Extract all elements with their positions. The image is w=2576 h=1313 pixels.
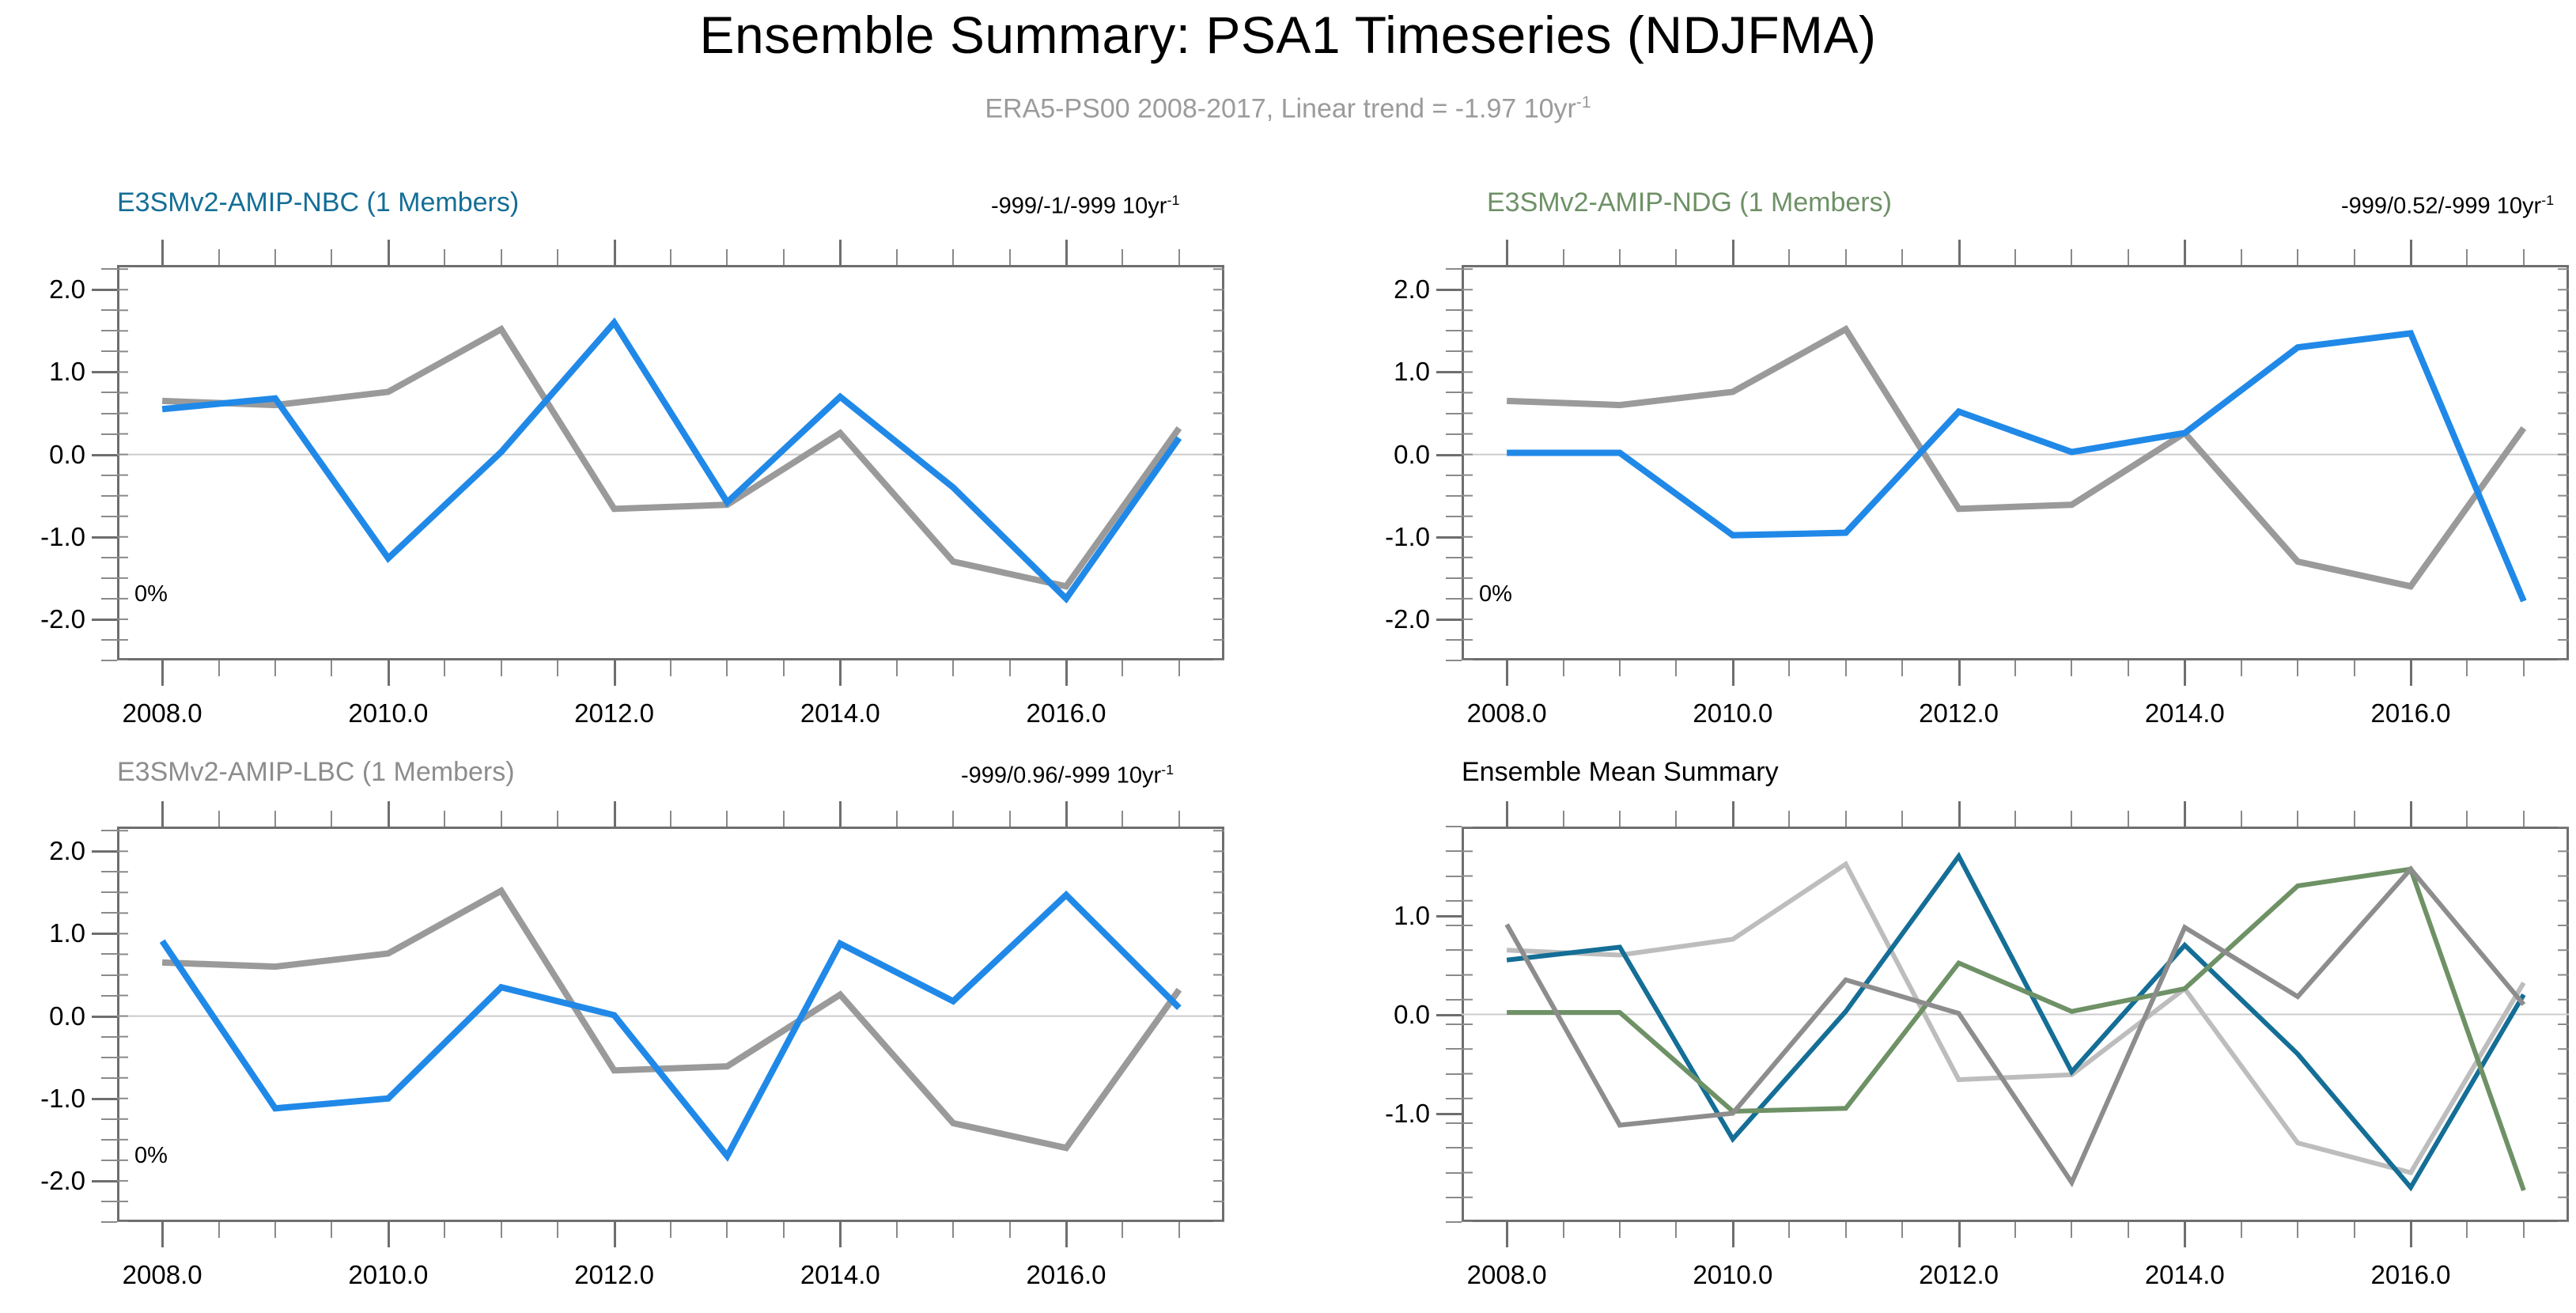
y-axis-minor-tick-outer — [101, 871, 117, 872]
panel-nbc-stat: -999/-1/-999 10yr-1 — [991, 192, 1179, 220]
x-axis-minor-tick-top — [501, 811, 502, 827]
x-axis-minor-tick-top — [1788, 811, 1790, 827]
x-axis-major-tick — [1958, 660, 1961, 686]
x-axis-minor-tick-top — [2354, 249, 2355, 265]
x-axis-minor-tick-top — [896, 249, 898, 265]
y-axis-minor-tick-outer — [101, 1036, 117, 1038]
y-axis-major-tick — [1436, 454, 1462, 456]
x-axis-major-tick-top — [2410, 240, 2412, 265]
x-axis-minor-tick-top — [218, 811, 220, 827]
x-axis-minor-tick-top — [726, 249, 728, 265]
y-axis-major-tick — [92, 850, 117, 853]
y-axis-minor-tick-outer — [1446, 475, 1462, 476]
y-axis-major-tick — [92, 371, 117, 373]
x-axis-minor-tick — [274, 660, 276, 676]
panel-ndg-stat: -999/0.52/-999 10yr-1 — [2341, 192, 2554, 220]
x-axis-minor-tick — [1901, 1222, 1903, 1238]
y-axis-minor-tick-outer — [1446, 1221, 1462, 1223]
x-axis-minor-tick-top — [1619, 811, 1621, 827]
x-axis-minor-tick-top — [783, 811, 785, 827]
x-axis-minor-tick — [1563, 1222, 1564, 1238]
y-axis-tick-label: 0.0 — [0, 1001, 85, 1031]
x-axis-minor-tick-top — [331, 249, 332, 265]
x-axis-minor-tick-top — [331, 811, 332, 827]
y-axis-minor-tick-outer — [1446, 309, 1462, 311]
x-axis-minor-tick — [952, 660, 954, 676]
x-axis-tick-label: 2008.0 — [1467, 698, 1547, 728]
x-axis-minor-tick-top — [1845, 249, 1847, 265]
panel-ndg-plot: 0% — [1462, 265, 2569, 660]
x-axis-major-tick — [2410, 660, 2412, 686]
y-axis-major-tick — [92, 1016, 117, 1018]
y-axis-minor-tick-outer — [1446, 974, 1462, 976]
x-axis-major-tick — [388, 660, 390, 686]
x-axis-major-tick — [161, 1222, 164, 1247]
panel-lbc-stat-text: -999/0.96/-999 10yr — [961, 763, 1161, 789]
panel-ndg-stat-text: -999/0.52/-999 10yr — [2341, 194, 2541, 219]
x-axis-minor-tick — [1788, 660, 1790, 676]
y-axis-minor-tick-outer — [1446, 1197, 1462, 1198]
x-axis-minor-tick-top — [2354, 811, 2355, 827]
x-axis-minor-tick — [670, 1222, 671, 1238]
x-axis-major-tick-top — [614, 801, 616, 827]
x-axis-minor-tick — [331, 660, 332, 676]
y-axis-tick-label: 0.0 — [1343, 1000, 1430, 1030]
y-axis-tick-label: 2.0 — [0, 274, 85, 305]
y-axis-minor-tick-outer — [101, 830, 117, 831]
y-axis-minor-tick-outer — [1446, 557, 1462, 558]
panel-ensemble-mean-plot — [1462, 827, 2569, 1222]
x-axis-major-tick — [1506, 660, 1508, 686]
x-axis-minor-tick — [2466, 1222, 2468, 1238]
x-axis-minor-tick-top — [2523, 811, 2525, 827]
series-line-e3smv2-amip-lbc — [162, 895, 1179, 1156]
y-axis-minor-tick-outer — [1446, 495, 1462, 497]
x-axis-minor-tick — [1178, 1222, 1180, 1238]
x-axis-minor-tick-top — [218, 249, 220, 265]
x-axis-minor-tick-top — [2297, 249, 2298, 265]
x-axis-major-tick-top — [1065, 240, 1068, 265]
y-axis-minor-tick-outer — [1446, 826, 1462, 827]
series-line-era5-observation — [1507, 329, 2524, 586]
y-axis-major-tick — [92, 454, 117, 456]
panel-ndg-title: E3SMv2-AMIP-NDG (1 Members) — [1487, 187, 1892, 218]
x-axis-major-tick — [2184, 660, 2186, 686]
y-axis-major-tick — [1436, 536, 1462, 539]
x-axis-minor-tick-top — [274, 249, 276, 265]
x-axis-major-tick — [614, 660, 616, 686]
x-axis-minor-tick-top — [2014, 811, 2016, 827]
y-axis-minor-tick-outer — [101, 912, 117, 914]
x-axis-minor-tick-top — [2297, 811, 2298, 827]
x-axis-minor-tick-top — [2128, 249, 2129, 265]
y-axis-minor-tick-outer — [101, 1160, 117, 1161]
y-axis-minor-tick-outer — [101, 1057, 117, 1058]
y-axis-minor-tick-outer — [101, 475, 117, 476]
x-axis-minor-tick — [2241, 1222, 2242, 1238]
x-axis-minor-tick-top — [1901, 811, 1903, 827]
x-axis-minor-tick-top — [1563, 249, 1564, 265]
x-axis-minor-tick — [1619, 660, 1621, 676]
panel-nbc-percent-label: 0% — [134, 581, 168, 607]
x-axis-major-tick-top — [1065, 801, 1068, 827]
x-axis-minor-tick-top — [1009, 811, 1011, 827]
x-axis-minor-tick — [218, 1222, 220, 1238]
x-axis-tick-label: 2008.0 — [1467, 1260, 1547, 1290]
x-axis-minor-tick-top — [726, 811, 728, 827]
y-axis-minor-tick-outer — [101, 891, 117, 893]
y-axis-major-tick — [92, 933, 117, 935]
x-axis-major-tick-top — [1732, 801, 1734, 827]
x-axis-minor-tick — [896, 660, 898, 676]
panel-lbc-stat: -999/0.96/-999 10yr-1 — [961, 762, 1174, 789]
y-axis-minor-tick-outer — [1446, 949, 1462, 951]
x-axis-minor-tick — [557, 1222, 558, 1238]
panel-lbc-percent-label: 0% — [134, 1143, 168, 1169]
x-axis-minor-tick — [1122, 660, 1123, 676]
x-axis-tick-label: 2014.0 — [2145, 698, 2225, 728]
series-line-e3smv2-amip-lbc — [1507, 869, 2524, 1182]
x-axis-minor-tick-top — [2014, 249, 2016, 265]
y-axis-minor-tick-outer — [1446, 876, 1462, 877]
x-axis-minor-tick — [1563, 660, 1564, 676]
x-axis-minor-tick-top — [1619, 249, 1621, 265]
x-axis-minor-tick — [1009, 1222, 1011, 1238]
x-axis-minor-tick — [1845, 1222, 1847, 1238]
x-axis-minor-tick-top — [896, 811, 898, 827]
page-title: Ensemble Summary: PSA1 Timeseries (NDJFM… — [0, 5, 2576, 65]
y-axis-major-tick — [1436, 371, 1462, 373]
x-axis-minor-tick-top — [783, 249, 785, 265]
x-axis-minor-tick — [1675, 1222, 1677, 1238]
x-axis-minor-tick-top — [2466, 811, 2468, 827]
y-axis-tick-label: 2.0 — [0, 836, 85, 866]
x-axis-minor-tick — [1178, 660, 1180, 676]
x-axis-minor-tick-top — [1788, 249, 1790, 265]
x-axis-major-tick — [388, 1222, 390, 1247]
figure-root: Ensemble Summary: PSA1 Timeseries (NDJFM… — [0, 0, 2576, 1313]
y-axis-minor-tick-outer — [1446, 268, 1462, 270]
x-axis-major-tick — [2410, 1222, 2412, 1247]
y-axis-minor-tick-outer — [101, 516, 117, 517]
x-axis-major-tick — [1732, 1222, 1734, 1247]
x-axis-minor-tick-top — [1122, 249, 1123, 265]
y-axis-minor-tick-outer — [101, 433, 117, 435]
series-line-e3smv2-amip-nbc — [1507, 857, 2524, 1188]
panel-ensemble-mean-title: Ensemble Mean Summary — [1462, 757, 1779, 788]
y-axis-tick-label: -2.0 — [0, 1166, 85, 1196]
y-axis-tick-label: -2.0 — [0, 604, 85, 634]
y-axis-minor-tick-outer — [101, 598, 117, 600]
figure-subtitle: ERA5-PS00 2008-2017, Linear trend = -1.9… — [0, 93, 2576, 124]
y-axis-minor-tick-outer — [1446, 999, 1462, 1001]
y-axis-minor-tick-outer — [1446, 660, 1462, 661]
x-axis-tick-label: 2012.0 — [1919, 1260, 1999, 1290]
y-axis-minor-tick-outer — [101, 309, 117, 311]
x-axis-major-tick-top — [1506, 240, 1508, 265]
x-axis-tick-label: 2008.0 — [123, 698, 202, 728]
y-axis-minor-tick-outer — [101, 330, 117, 331]
y-axis-minor-tick-outer — [1446, 1048, 1462, 1050]
y-axis-tick-label: 0.0 — [0, 440, 85, 470]
x-axis-minor-tick-top — [952, 811, 954, 827]
x-axis-minor-tick — [2071, 1222, 2072, 1238]
x-axis-minor-tick-top — [2466, 249, 2468, 265]
series-line-e3smv2-amip-nbc — [162, 323, 1179, 599]
x-axis-minor-tick-top — [1178, 811, 1180, 827]
y-axis-minor-tick-outer — [101, 1201, 117, 1202]
panel-lbc-svg — [117, 827, 1224, 1222]
x-axis-minor-tick — [557, 660, 558, 676]
x-axis-minor-tick — [2466, 660, 2468, 676]
x-axis-minor-tick — [1122, 1222, 1123, 1238]
x-axis-minor-tick — [2297, 1222, 2298, 1238]
x-axis-minor-tick — [1619, 1222, 1621, 1238]
x-axis-minor-tick-top — [444, 811, 445, 827]
x-axis-tick-label: 2010.0 — [348, 1260, 428, 1290]
x-axis-minor-tick — [444, 1222, 445, 1238]
y-axis-major-tick — [92, 1180, 117, 1182]
x-axis-major-tick-top — [1506, 801, 1508, 827]
series-line-e3smv2-amip-ndg — [1507, 333, 2524, 601]
panel-nbc-svg — [117, 265, 1224, 660]
y-axis-minor-tick-outer — [1446, 1172, 1462, 1174]
x-axis-tick-label: 2012.0 — [574, 698, 654, 728]
panel-nbc-stat-text: -999/-1/-999 10yr — [991, 194, 1167, 219]
x-axis-tick-label: 2008.0 — [123, 1260, 202, 1290]
panel-ndg-stat-exponent: -1 — [2541, 192, 2554, 208]
y-axis-tick-label: -1.0 — [1343, 522, 1430, 552]
y-axis-minor-tick-outer — [101, 995, 117, 997]
y-axis-minor-tick-outer — [1446, 1147, 1462, 1148]
x-axis-minor-tick — [1009, 660, 1011, 676]
y-axis-minor-tick-outer — [101, 413, 117, 414]
y-axis-tick-label: -1.0 — [0, 522, 85, 552]
x-axis-major-tick-top — [1958, 801, 1961, 827]
x-axis-minor-tick — [1845, 660, 1847, 676]
x-axis-major-tick — [2184, 1222, 2186, 1247]
x-axis-tick-label: 2016.0 — [1027, 1260, 1106, 1290]
x-axis-tick-label: 2014.0 — [800, 1260, 880, 1290]
y-axis-minor-tick-outer — [101, 660, 117, 661]
y-axis-minor-tick-outer — [1446, 413, 1462, 414]
y-axis-minor-tick-outer — [101, 268, 117, 270]
panel-nbc-plot: 0% — [117, 265, 1224, 660]
x-axis-minor-tick-top — [2241, 811, 2242, 827]
y-axis-minor-tick-outer — [1446, 900, 1462, 902]
x-axis-minor-tick-top — [952, 249, 954, 265]
x-axis-minor-tick-top — [1675, 249, 1677, 265]
x-axis-major-tick-top — [388, 240, 390, 265]
y-axis-tick-label: 1.0 — [0, 918, 85, 948]
y-axis-major-tick — [92, 1098, 117, 1100]
x-axis-major-tick — [614, 1222, 616, 1247]
y-axis-tick-label: 1.0 — [1343, 901, 1430, 931]
y-axis-minor-tick-outer — [101, 557, 117, 558]
x-axis-major-tick — [161, 660, 164, 686]
x-axis-minor-tick — [2241, 660, 2242, 676]
x-axis-minor-tick-top — [2128, 811, 2129, 827]
y-axis-tick-label: 1.0 — [1343, 357, 1430, 387]
x-axis-minor-tick — [670, 660, 671, 676]
x-axis-tick-label: 2016.0 — [2371, 698, 2451, 728]
x-axis-minor-tick-top — [501, 249, 502, 265]
y-axis-minor-tick-outer — [1446, 392, 1462, 393]
x-axis-minor-tick — [1788, 1222, 1790, 1238]
y-axis-major-tick — [92, 536, 117, 539]
y-axis-minor-tick-outer — [1446, 639, 1462, 641]
subtitle-exponent: -1 — [1576, 93, 1591, 112]
y-axis-minor-tick-outer — [101, 1221, 117, 1223]
x-axis-minor-tick-top — [1563, 811, 1564, 827]
x-axis-tick-label: 2014.0 — [2145, 1260, 2225, 1290]
x-axis-minor-tick — [2297, 660, 2298, 676]
x-axis-major-tick-top — [161, 801, 164, 827]
x-axis-minor-tick — [2014, 1222, 2016, 1238]
x-axis-major-tick-top — [839, 801, 842, 827]
y-axis-minor-tick-outer — [101, 1077, 117, 1079]
x-axis-minor-tick-top — [2071, 811, 2072, 827]
x-axis-major-tick — [1958, 1222, 1961, 1247]
x-axis-minor-tick-top — [1901, 249, 1903, 265]
x-axis-tick-label: 2010.0 — [1693, 698, 1772, 728]
y-axis-major-tick — [1436, 1113, 1462, 1115]
y-axis-minor-tick-outer — [101, 350, 117, 352]
y-axis-minor-tick-outer — [1446, 433, 1462, 435]
x-axis-minor-tick — [2354, 660, 2355, 676]
y-axis-minor-tick-outer — [1446, 1024, 1462, 1025]
x-axis-tick-label: 2016.0 — [1027, 698, 1106, 728]
x-axis-minor-tick — [2128, 660, 2129, 676]
y-axis-minor-tick-outer — [1446, 850, 1462, 852]
x-axis-minor-tick — [501, 660, 502, 676]
panel-lbc-title: E3SMv2-AMIP-LBC (1 Members) — [117, 757, 515, 788]
x-axis-major-tick-top — [161, 240, 164, 265]
x-axis-minor-tick — [274, 1222, 276, 1238]
x-axis-major-tick-top — [614, 240, 616, 265]
x-axis-minor-tick-top — [274, 811, 276, 827]
x-axis-minor-tick-top — [557, 811, 558, 827]
x-axis-major-tick-top — [1958, 240, 1961, 265]
y-axis-minor-tick-outer — [101, 495, 117, 497]
x-axis-minor-tick-top — [1845, 811, 1847, 827]
x-axis-minor-tick-top — [1178, 249, 1180, 265]
y-axis-minor-tick-outer — [1446, 1098, 1462, 1099]
x-axis-major-tick — [1506, 1222, 1508, 1247]
y-axis-minor-tick-outer — [1446, 350, 1462, 352]
y-axis-minor-tick-outer — [1446, 598, 1462, 600]
y-axis-major-tick — [92, 619, 117, 621]
x-axis-major-tick-top — [2184, 240, 2186, 265]
x-axis-minor-tick — [2128, 1222, 2129, 1238]
x-axis-minor-tick — [1675, 660, 1677, 676]
x-axis-minor-tick-top — [1122, 811, 1123, 827]
y-axis-major-tick — [1436, 915, 1462, 918]
x-axis-minor-tick-top — [670, 249, 671, 265]
x-axis-major-tick-top — [2410, 801, 2412, 827]
x-axis-major-tick — [839, 660, 842, 686]
y-axis-tick-label: 1.0 — [0, 357, 85, 387]
y-axis-minor-tick-outer — [1446, 516, 1462, 517]
y-axis-major-tick — [1436, 1014, 1462, 1016]
y-axis-tick-label: -1.0 — [0, 1084, 85, 1114]
x-axis-minor-tick-top — [2523, 249, 2525, 265]
x-axis-minor-tick-top — [2071, 249, 2072, 265]
x-axis-minor-tick — [218, 660, 220, 676]
panel-lbc-stat-exponent: -1 — [1161, 762, 1174, 778]
y-axis-minor-tick-outer — [1446, 577, 1462, 579]
y-axis-minor-tick-outer — [101, 953, 117, 955]
x-axis-major-tick — [1065, 1222, 1068, 1247]
x-axis-minor-tick — [501, 1222, 502, 1238]
x-axis-minor-tick — [2354, 1222, 2355, 1238]
y-axis-minor-tick-outer — [1446, 1122, 1462, 1124]
x-axis-major-tick-top — [839, 240, 842, 265]
x-axis-minor-tick-top — [1009, 249, 1011, 265]
y-axis-minor-tick-outer — [1446, 330, 1462, 331]
panel-ensemble-mean-svg — [1462, 827, 2569, 1222]
y-axis-minor-tick-outer — [101, 392, 117, 393]
x-axis-minor-tick — [896, 1222, 898, 1238]
panel-ndg-percent-label: 0% — [1479, 581, 1512, 607]
panel-nbc-stat-exponent: -1 — [1167, 192, 1179, 208]
x-axis-major-tick-top — [388, 801, 390, 827]
y-axis-tick-label: -1.0 — [1343, 1099, 1430, 1129]
x-axis-minor-tick — [952, 1222, 954, 1238]
x-axis-tick-label: 2010.0 — [348, 698, 428, 728]
y-axis-minor-tick-outer — [101, 639, 117, 641]
y-axis-major-tick — [92, 289, 117, 291]
panel-ndg-svg — [1462, 265, 2569, 660]
x-axis-minor-tick-top — [557, 249, 558, 265]
x-axis-major-tick-top — [1732, 240, 1734, 265]
y-axis-minor-tick-outer — [1446, 1073, 1462, 1075]
y-axis-tick-label: -2.0 — [1343, 604, 1430, 634]
x-axis-tick-label: 2012.0 — [574, 1260, 654, 1290]
x-axis-minor-tick — [444, 660, 445, 676]
x-axis-minor-tick-top — [670, 811, 671, 827]
x-axis-minor-tick — [2071, 660, 2072, 676]
y-axis-minor-tick-outer — [101, 577, 117, 579]
x-axis-minor-tick — [2523, 1222, 2525, 1238]
x-axis-minor-tick — [2523, 660, 2525, 676]
x-axis-tick-label: 2014.0 — [800, 698, 880, 728]
x-axis-minor-tick — [1901, 660, 1903, 676]
y-axis-tick-label: 2.0 — [1343, 274, 1430, 305]
y-axis-major-tick — [1436, 289, 1462, 291]
x-axis-tick-label: 2010.0 — [1693, 1260, 1772, 1290]
x-axis-tick-label: 2016.0 — [2371, 1260, 2451, 1290]
x-axis-minor-tick — [783, 660, 785, 676]
x-axis-minor-tick-top — [2241, 249, 2242, 265]
y-axis-minor-tick-outer — [101, 1118, 117, 1120]
x-axis-major-tick — [839, 1222, 842, 1247]
panel-lbc-plot: 0% — [117, 827, 1224, 1222]
x-axis-minor-tick — [726, 660, 728, 676]
x-axis-minor-tick — [783, 1222, 785, 1238]
y-axis-tick-label: 0.0 — [1343, 440, 1430, 470]
y-axis-minor-tick-outer — [101, 974, 117, 976]
x-axis-minor-tick-top — [444, 249, 445, 265]
subtitle-text: ERA5-PS00 2008-2017, Linear trend = -1.9… — [985, 93, 1576, 123]
panel-nbc-title: E3SMv2-AMIP-NBC (1 Members) — [117, 187, 519, 218]
x-axis-minor-tick — [2014, 660, 2016, 676]
x-axis-minor-tick — [726, 1222, 728, 1238]
y-axis-minor-tick-outer — [1446, 925, 1462, 926]
x-axis-major-tick — [1732, 660, 1734, 686]
x-axis-minor-tick — [331, 1222, 332, 1238]
x-axis-tick-label: 2012.0 — [1919, 698, 1999, 728]
